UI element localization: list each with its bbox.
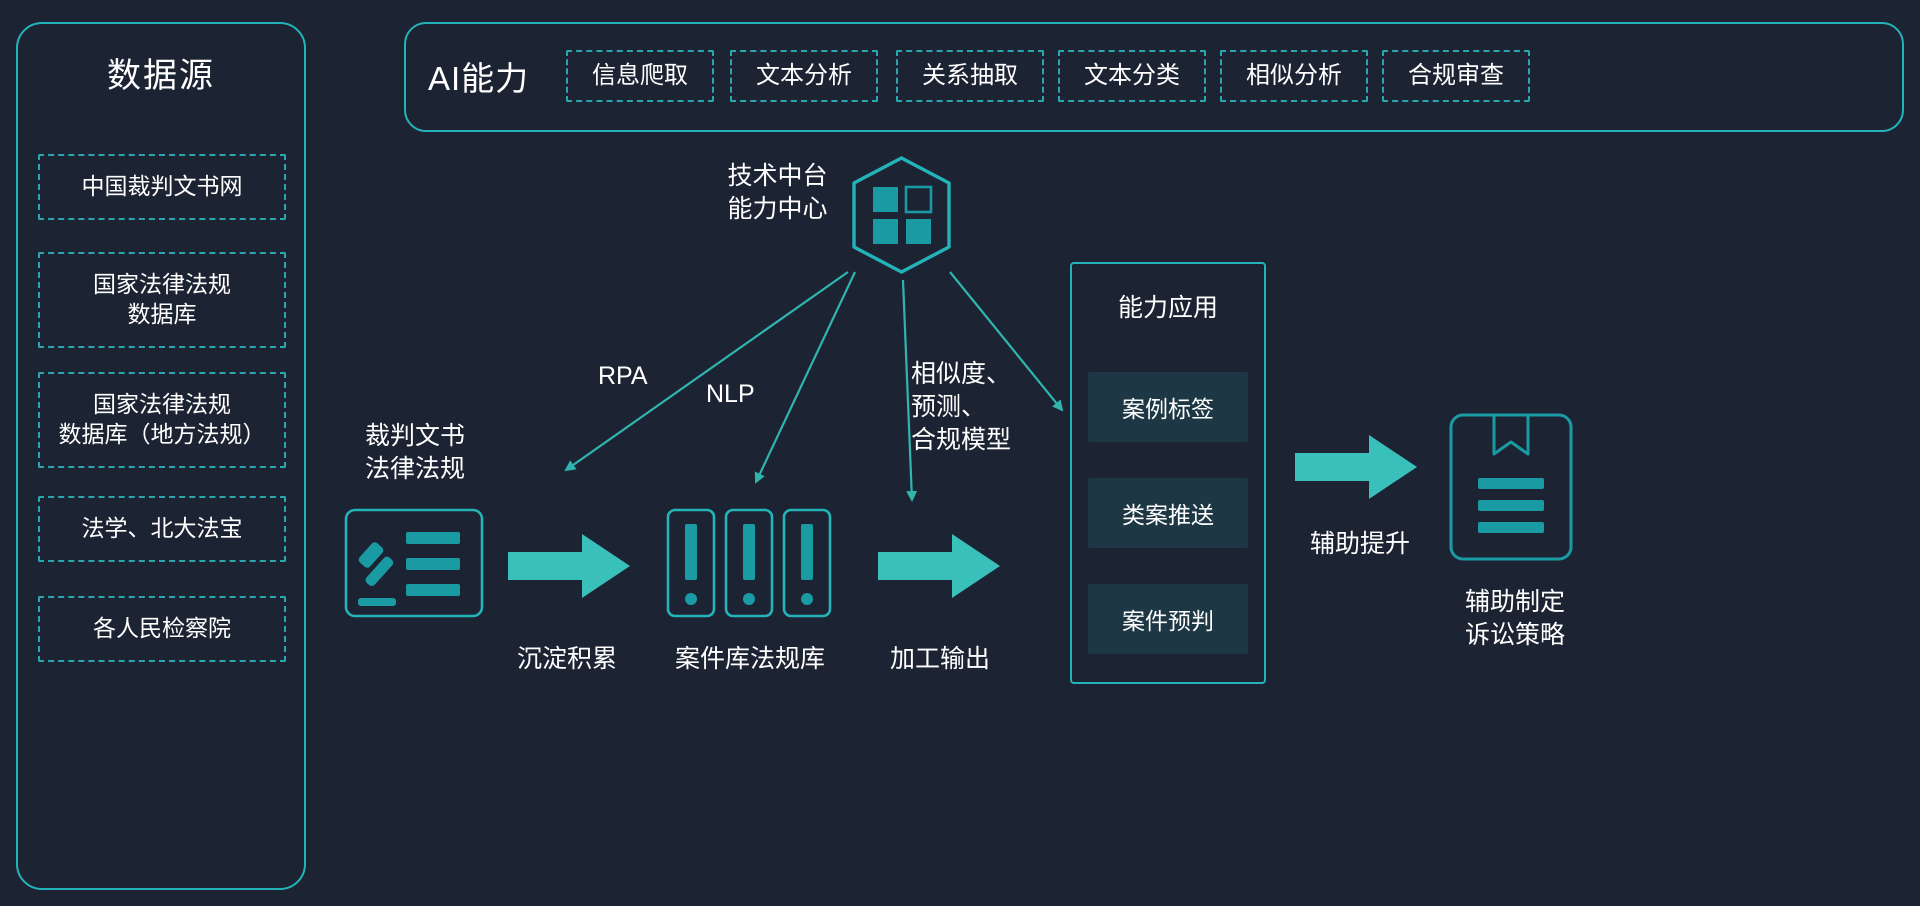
datasource-item-3[interactable]: 国家法律法规 数据库（地方法规） bbox=[38, 372, 286, 468]
ai-chip-relation-extraction-label: 关系抽取 bbox=[922, 60, 1018, 91]
datasource-item-5-label: 各人民检察院 bbox=[93, 614, 231, 644]
datasource-item-4[interactable]: 法学、北大法宝 bbox=[38, 496, 286, 562]
ai-chip-info-crawl-label: 信息爬取 bbox=[592, 60, 688, 91]
ability-item-case-prediction-label: 案件预判 bbox=[1122, 602, 1214, 636]
datasource-item-3-label: 国家法律法规 数据库（地方法规） bbox=[59, 390, 266, 450]
ability-item-case-tag[interactable]: 案例标签 bbox=[1088, 372, 1248, 442]
stage-label-final: 辅助制定 诉讼策略 bbox=[1430, 586, 1600, 652]
ai-capability-title: AI能力 bbox=[428, 52, 529, 100]
ability-item-case-push[interactable]: 类案推送 bbox=[1088, 478, 1248, 548]
datasource-item-5[interactable]: 各人民检察院 bbox=[38, 596, 286, 662]
diagram-canvas: 数据源 中国裁判文书网 国家法律法规 数据库 国家法律法规 数据库（地方法规） … bbox=[0, 0, 1920, 906]
datasource-item-4-label: 法学、北大法宝 bbox=[82, 514, 243, 544]
ai-chip-text-analysis-label: 文本分析 bbox=[756, 60, 852, 91]
ai-chip-info-crawl[interactable]: 信息爬取 bbox=[566, 50, 714, 102]
datasource-title: 数据源 bbox=[16, 48, 306, 97]
doc-caption: 裁判文书 法律法规 bbox=[340, 420, 490, 486]
ai-chip-text-analysis[interactable]: 文本分析 bbox=[730, 50, 878, 102]
ability-application-title: 能力应用 bbox=[1070, 288, 1266, 324]
hub-label-line1: 技术中台 bbox=[690, 160, 865, 193]
ai-chip-similarity-analysis-label: 相似分析 bbox=[1246, 60, 1342, 91]
ai-chip-text-classification-label: 文本分类 bbox=[1084, 60, 1180, 91]
stage-label-accumulate: 沉淀积累 bbox=[487, 643, 647, 676]
ai-chip-compliance-review-label: 合规审查 bbox=[1408, 60, 1504, 91]
hexagon-grid-icon bbox=[849, 155, 954, 275]
fat-right-arrow-icon-2 bbox=[878, 532, 1000, 600]
fat-right-arrow-icon-1 bbox=[508, 532, 630, 600]
edge-label-similarity: 相似度、 预测、 合规模型 bbox=[911, 358, 1071, 457]
hub-label-line2: 能力中心 bbox=[690, 193, 865, 226]
hub-label: 技术中台 能力中心 bbox=[690, 160, 865, 226]
ability-item-case-prediction[interactable]: 案件预判 bbox=[1088, 584, 1248, 654]
bookmark-document-icon bbox=[1448, 412, 1574, 562]
edge-label-nlp: NLP bbox=[706, 378, 755, 411]
gavel-document-icon bbox=[344, 508, 484, 618]
connector-nlp bbox=[756, 272, 855, 482]
ai-chip-compliance-review[interactable]: 合规审查 bbox=[1382, 50, 1530, 102]
ability-item-case-push-label: 类案推送 bbox=[1122, 496, 1214, 530]
fat-right-arrow-icon-3 bbox=[1295, 433, 1417, 501]
edge-label-rpa: RPA bbox=[598, 360, 648, 393]
datasource-item-2[interactable]: 国家法律法规 数据库 bbox=[38, 252, 286, 348]
ai-chip-text-classification[interactable]: 文本分类 bbox=[1058, 50, 1206, 102]
ai-chip-similarity-analysis[interactable]: 相似分析 bbox=[1220, 50, 1368, 102]
datasource-item-2-label: 国家法律法规 数据库 bbox=[93, 270, 231, 330]
ability-item-case-tag-label: 案例标签 bbox=[1122, 390, 1214, 424]
ai-chip-relation-extraction[interactable]: 关系抽取 bbox=[896, 50, 1044, 102]
stage-label-assist: 辅助提升 bbox=[1285, 528, 1435, 561]
datasource-item-1-label: 中国裁判文书网 bbox=[82, 172, 243, 202]
stage-label-output: 加工输出 bbox=[860, 643, 1020, 676]
datasource-item-1[interactable]: 中国裁判文书网 bbox=[38, 154, 286, 220]
stage-label-database: 案件库法规库 bbox=[660, 643, 840, 676]
server-rack-icon bbox=[666, 508, 832, 618]
